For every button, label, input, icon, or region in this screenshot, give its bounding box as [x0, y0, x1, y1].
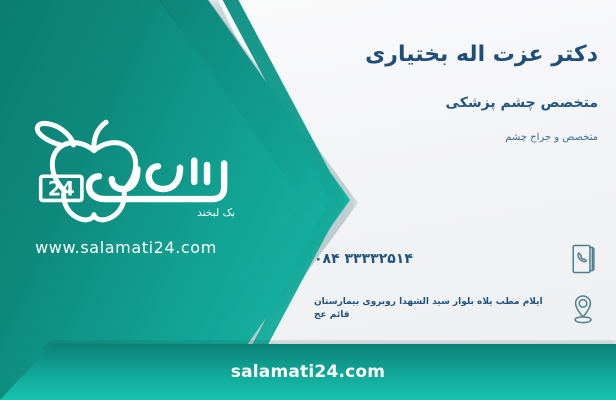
doctor-subtitle: متخصص و جراح چشم — [326, 132, 598, 143]
phone-number[interactable]: ۳۳۳۳۲۵۱۴ ۰۸۴ — [314, 251, 566, 267]
badge-24: 24 — [41, 176, 82, 200]
contact-block: ۳۳۳۳۲۵۱۴ ۰۸۴ ایلام مطب یلاه بلوار سید ال… — [314, 240, 606, 340]
phone-book-icon — [566, 240, 600, 278]
doctor-specialty: متخصص چشم پزشکی — [326, 95, 598, 111]
business-card: 24 به راحتی یک لبخند www.salamati24.com … — [0, 0, 616, 400]
clinic-address: ایلام مطب یلاه بلوار سید الشهدا روبروی ب… — [314, 296, 566, 323]
apple-outline-logo: 24 به راحتی یک لبخند — [18, 108, 234, 236]
svg-text:24: 24 — [48, 177, 75, 200]
brand-logo: 24 به راحتی یک لبخند www.salamati24.com — [18, 108, 234, 278]
contact-row-address: ایلام مطب یلاه بلوار سید الشهدا روبروی ب… — [314, 290, 606, 328]
svg-text:به راحتی یک لبخند: به راحتی یک لبخند — [197, 206, 234, 219]
logo-tagline: به راحتی یک لبخند — [197, 206, 234, 219]
map-pin-icon — [566, 290, 600, 328]
logo-website-url[interactable]: www.salamati24.com — [18, 238, 234, 257]
wordmark-salamati — [89, 161, 224, 199]
footer-website[interactable]: salamati24.com — [0, 344, 616, 400]
doctor-name: دکتر عزت اله بختیاری — [326, 40, 598, 70]
contact-row-phone: ۳۳۳۳۲۵۱۴ ۰۸۴ — [314, 240, 606, 278]
